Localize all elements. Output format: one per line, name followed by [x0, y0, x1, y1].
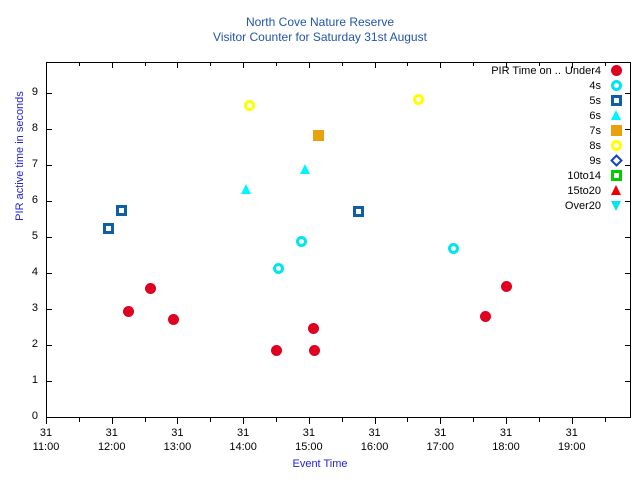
data-point-Under4: [123, 306, 134, 317]
data-point-Under4: [501, 281, 512, 292]
data-point-4s: [273, 263, 284, 274]
y-tick-label: 9: [0, 86, 38, 98]
x-minor-tick-mark: [605, 418, 606, 422]
x-tick-mark: [112, 418, 113, 424]
x-tick-mark: [440, 418, 441, 424]
x-tick-mark: [309, 418, 310, 424]
marker-open-triangle-down: [611, 201, 621, 211]
x-tick-mark: [177, 418, 178, 424]
legend-item-Under4[interactable]: PIR Time on ..Under4: [441, 63, 631, 78]
legend-item-label: 7s: [589, 125, 601, 137]
legend-item-swatch: [601, 183, 631, 198]
x-minor-tick-mark: [407, 418, 408, 422]
y-tick-label: 6: [0, 194, 38, 206]
marker-filled-triangle-up: [611, 185, 621, 195]
legend-item-4s[interactable]: 4s: [441, 78, 631, 93]
legend-item-swatch: [601, 78, 631, 93]
x-minor-tick-mark: [342, 418, 343, 422]
marker-open-square: [611, 170, 622, 181]
legend-item-swatch: [601, 153, 631, 168]
data-point-7s: [313, 130, 324, 141]
data-point-6s: [300, 164, 310, 174]
data-point-5s: [353, 206, 364, 217]
marker-open-circle: [611, 140, 622, 151]
legend-item-15to20[interactable]: 15to20: [441, 183, 631, 198]
legend-item-label: 5s: [589, 95, 601, 107]
marker-filled-circle: [611, 65, 622, 76]
legend-item-10to14[interactable]: 10to14: [441, 168, 631, 183]
y-axis-label: PIR active time in seconds: [14, 6, 26, 306]
y-tick-label: 7: [0, 158, 38, 170]
x-minor-tick-mark: [276, 418, 277, 422]
x-minor-tick-mark: [473, 418, 474, 422]
data-point-6s: [241, 184, 251, 194]
x-axis-label: Event Time: [0, 458, 640, 470]
y-tick-label: 8: [0, 122, 38, 134]
data-point-Under4: [309, 345, 320, 356]
legend-item-9s[interactable]: 9s: [441, 153, 631, 168]
legend-item-swatch: [601, 123, 631, 138]
y-tick-label: 0: [0, 410, 38, 422]
legend-item-label: 4s: [589, 80, 601, 92]
legend-item-swatch: [601, 108, 631, 123]
x-minor-tick-mark: [210, 418, 211, 422]
legend-item-swatch: [601, 198, 631, 213]
legend-item-label: 6s: [589, 110, 601, 122]
x-tick-mark: [375, 418, 376, 424]
marker-filled-triangle-up: [611, 110, 621, 120]
data-point-Under4: [145, 283, 156, 294]
chart-subtitle: Visitor Counter for Saturday 31st August: [0, 30, 640, 45]
data-point-4s: [296, 236, 307, 247]
x-tick-mark: [46, 418, 47, 424]
y-tick-label: 5: [0, 230, 38, 242]
chart-title: North Cove Nature Reserve: [0, 15, 640, 30]
legend-item-swatch: [601, 138, 631, 153]
y-tick-label: 2: [0, 338, 38, 350]
legend-item-label: 8s: [589, 140, 601, 152]
data-point-5s: [103, 223, 114, 234]
x-minor-tick-mark: [79, 418, 80, 422]
y-tick-label: 1: [0, 374, 38, 386]
chart-title-block: North Cove Nature Reserve Visitor Counte…: [0, 15, 640, 45]
legend-item-swatch: [601, 168, 631, 183]
legend-item-label: Over20: [565, 200, 601, 212]
legend-item-8s[interactable]: 8s: [441, 138, 631, 153]
x-tick-label: 3119:00: [532, 426, 612, 454]
x-tick-mark: [243, 418, 244, 424]
legend-item-label: Under4: [565, 65, 601, 77]
x-tick-mark: [506, 418, 507, 424]
legend-title: PIR Time on ..: [491, 65, 561, 77]
data-point-5s: [116, 205, 127, 216]
data-point-Under4: [308, 323, 319, 334]
x-tick-mark: [572, 418, 573, 424]
legend-item-6s[interactable]: 6s: [441, 108, 631, 123]
legend-item-label: 10to14: [567, 170, 601, 182]
x-minor-tick-mark: [539, 418, 540, 422]
legend-item-swatch: [601, 63, 631, 78]
y-tick-label: 4: [0, 266, 38, 278]
marker-open-square: [611, 95, 622, 106]
x-minor-tick-mark: [145, 418, 146, 422]
legend-item-label: 15to20: [567, 185, 601, 197]
data-point-Under4: [168, 314, 179, 325]
marker-open-circle: [611, 80, 622, 91]
chart-legend: PIR Time on ..Under44s5s6s7s8s9s10to1415…: [441, 63, 631, 213]
legend-item-label: 9s: [589, 155, 601, 167]
y-tick-label: 3: [0, 302, 38, 314]
data-point-Under4: [480, 311, 491, 322]
legend-item-7s[interactable]: 7s: [441, 123, 631, 138]
legend-item-5s[interactable]: 5s: [441, 93, 631, 108]
legend-item-Over20[interactable]: Over20: [441, 198, 631, 213]
scatter-chart: North Cove Nature Reserve Visitor Counte…: [0, 0, 640, 480]
marker-filled-square: [611, 125, 622, 136]
marker-open-diamond: [610, 154, 623, 167]
legend-item-swatch: [601, 93, 631, 108]
data-point-Under4: [271, 345, 282, 356]
